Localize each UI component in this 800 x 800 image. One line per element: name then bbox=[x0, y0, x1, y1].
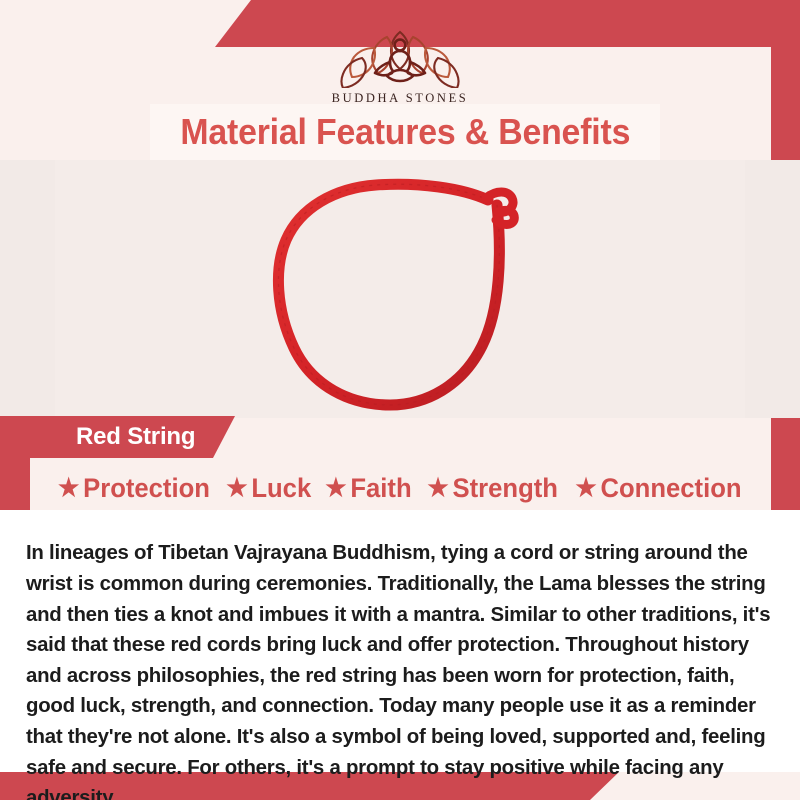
star-icon: ★ bbox=[58, 476, 79, 501]
red-string-bracelet-icon bbox=[250, 160, 550, 418]
ribbon-left-strip bbox=[0, 416, 30, 458]
infographic-canvas: BUDDHA STONES Material Features & Benefi… bbox=[0, 0, 800, 800]
benefits-row: ★ Protection ★ Luck ★ Faith ★ Strength ★… bbox=[30, 466, 770, 510]
page-title: Material Features & Benefits bbox=[180, 111, 630, 153]
material-ribbon: Red String bbox=[30, 416, 235, 458]
benefit-label: Strength bbox=[453, 473, 558, 504]
benefit-item-connection: ★ Connection bbox=[576, 473, 742, 504]
benefit-label: Connection bbox=[601, 473, 742, 504]
product-image bbox=[55, 160, 745, 418]
lotus-meditation-icon bbox=[332, 20, 468, 88]
star-icon: ★ bbox=[427, 476, 448, 501]
benefit-item-strength: ★ Strength bbox=[427, 473, 558, 504]
material-label: Red String bbox=[76, 423, 195, 451]
benefit-item-luck: ★ Luck bbox=[226, 473, 311, 504]
benefit-label: Luck bbox=[251, 473, 311, 504]
title-banner: Material Features & Benefits bbox=[150, 104, 660, 160]
product-image-band bbox=[0, 160, 800, 418]
brand-logo: BUDDHA STONES bbox=[0, 20, 800, 106]
benefit-label: Protection bbox=[83, 473, 210, 504]
description-text: In lineages of Tibetan Vajrayana Buddhis… bbox=[26, 538, 778, 800]
benefit-item-protection: ★ Protection bbox=[58, 473, 210, 504]
benefit-item-faith: ★ Faith bbox=[325, 473, 411, 504]
star-icon: ★ bbox=[325, 476, 346, 501]
description-card: In lineages of Tibetan Vajrayana Buddhis… bbox=[0, 510, 800, 772]
star-icon: ★ bbox=[576, 476, 597, 501]
benefit-label: Faith bbox=[350, 473, 411, 504]
star-icon: ★ bbox=[226, 476, 247, 501]
